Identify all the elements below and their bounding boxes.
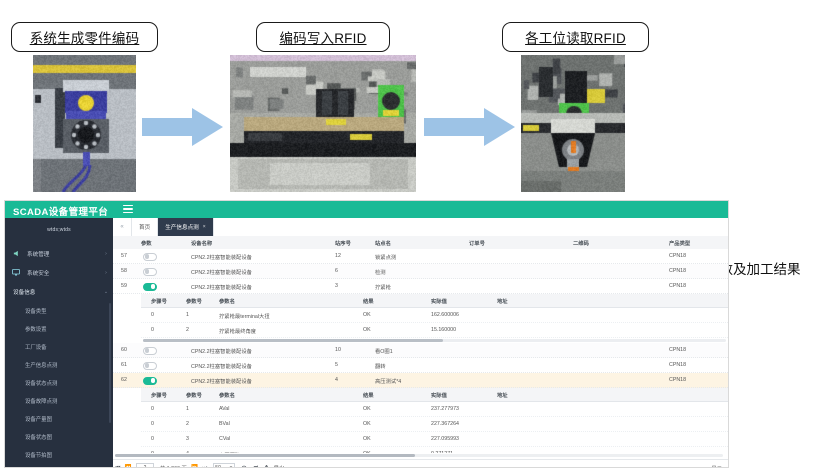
col-device-name: 设备名称	[191, 239, 212, 247]
toggle-knob	[145, 363, 150, 368]
page-total-label: 共 1,269 页	[160, 464, 187, 468]
cell-id: 58	[121, 268, 127, 274]
table-row[interactable]: 58CPN2.2柱塞智能装配设备6检测CPN18	[113, 264, 728, 279]
sidebar-label-9: 设备产量图	[5, 415, 113, 423]
sidebar-item-device-takt-chart[interactable]: 设备节拍图	[5, 447, 113, 463]
page-last-button[interactable]: ⏭	[200, 463, 210, 468]
col-product: 产品类型	[669, 239, 690, 247]
cell-station-no: 4	[335, 377, 338, 383]
toggle-knob	[151, 378, 156, 383]
flow-step-1-label: 系统生成零件编码	[30, 27, 140, 47]
app-top-bar	[5, 201, 728, 218]
subcell-param-name: BVal	[219, 421, 230, 427]
sidebar-user-label: wtds;wtds	[5, 227, 113, 233]
subcol-addr: 地址	[497, 391, 508, 399]
sidebar: wtds;wtds 系统管理 › 系统安全 › 设备信息 ⌄	[5, 218, 113, 467]
row-expand-toggle[interactable]	[143, 283, 157, 291]
table-row[interactable]: 57CPN2.2柱塞智能装配设备12锁紧点测CPN18	[113, 249, 728, 264]
subcell-param-no: 2	[186, 421, 189, 427]
page-prev-button[interactable]: ⏪	[123, 463, 133, 468]
app-brand-title: SCADA设备管理平台	[13, 204, 108, 218]
sidebar-item-device-output-chart[interactable]: 设备产量图	[5, 411, 113, 427]
subcell-param-name: 拧紧枪最terminal大扭	[219, 312, 270, 320]
table-body: 57CPN2.2柱塞智能装配设备12锁紧点测CPN1858CPN2.2柱塞智能装…	[113, 249, 728, 453]
subcol-res: 结果	[363, 297, 374, 305]
nested-grid-row[interactable]: 02拧紧枪最终角度OK15.160000	[141, 323, 728, 338]
cell-station-no: 10	[335, 347, 341, 353]
cell-device-name: CPN2.2柱塞智能装配设备	[191, 377, 252, 385]
subcell-result: OK	[363, 436, 371, 442]
table-row[interactable]: 59CPN2.2柱塞智能装配设备3拧紧枪CPN18	[113, 279, 728, 294]
cell-station-name: 锁紧点测	[375, 253, 396, 261]
page-size-value: 50	[215, 465, 221, 468]
subcell-param-no: 1	[186, 312, 189, 318]
chevron-down-icon: ⌄	[99, 289, 113, 295]
sidebar-item-production-info[interactable]: 生产信息点测	[5, 357, 113, 373]
cell-device-name: CPN2.2柱塞智能装配设备	[191, 268, 252, 276]
subcol-val: 实际值	[431, 297, 447, 305]
nested-grid-row[interactable]: 03CValOK227.095993	[141, 432, 728, 447]
flow-step-3-label: 各工位读取RFID	[525, 27, 626, 47]
chevron-right-icon-0: ›	[99, 251, 113, 257]
subcell-param-name: 拧紧枪最终角度	[219, 327, 256, 335]
slide-canvas: 系统生成零件编码 编码写入RFID 各工位读取RFID 记录过程参数及加工结果 …	[0, 0, 833, 470]
page-size-select[interactable]: 50 ▾	[213, 463, 235, 468]
tab-production-info-label: 生产信息点测	[165, 223, 199, 231]
col-param: 参数	[141, 239, 152, 247]
table-row[interactable]: 61CPN2.2柱塞智能装配设备5翻转CPN18	[113, 358, 728, 373]
cell-device-name: CPN2.2柱塞智能装配设备	[191, 283, 252, 291]
sidebar-label-6: 生产信息点测	[5, 361, 113, 369]
close-icon[interactable]: ×	[203, 224, 206, 230]
subcell-step: 0	[151, 421, 154, 427]
sidebar-item-device-info[interactable]: 设备信息 ⌄	[5, 282, 113, 301]
cell-station-no: 5	[335, 362, 338, 368]
flow-step-2-label: 编码写入RFID	[279, 27, 366, 47]
sidebar-item-factory-device[interactable]: 工厂设备	[5, 339, 113, 355]
col-station: 站点名	[375, 239, 391, 247]
nested-grid-row[interactable]: 02BValOK227.367264	[141, 417, 728, 432]
cell-product-type: CPN18	[669, 268, 686, 274]
cell-station-name: 翻转	[375, 362, 386, 370]
col-station-no: 站序号	[335, 239, 351, 247]
cell-product-type: CPN18	[669, 253, 686, 259]
subcell-step: 0	[151, 436, 154, 442]
flow-arrow-2-icon	[424, 107, 516, 147]
subcell-step: 0	[151, 312, 154, 318]
tab-home[interactable]: 首页	[132, 218, 158, 236]
row-expand-toggle[interactable]	[143, 377, 157, 385]
flow-step-1-callout: 系统生成零件编码	[11, 22, 158, 52]
toggle-knob	[145, 348, 150, 353]
cell-product-type: CPN18	[669, 283, 686, 289]
subcol-pname: 参数名	[219, 391, 235, 399]
subcol-pname: 参数名	[219, 297, 235, 305]
sidebar-label-1: 系统安全	[27, 269, 99, 277]
nested-parameter-grid: 步骤号参数号参数名结果实际值地址01拧紧枪最terminal大扭OK162.60…	[141, 294, 728, 343]
pager-right-label: 显示	[711, 464, 722, 468]
sidebar-item-device-type[interactable]: 设备类型	[5, 303, 113, 319]
sidebar-label-11: 设备节拍图	[5, 451, 113, 459]
flow-step-3-callout: 各工位读取RFID	[502, 22, 649, 52]
subcol-pno: 参数号	[186, 391, 202, 399]
tab-strip: « 首页 生产信息点测 ×	[113, 218, 728, 237]
subcol-res: 结果	[363, 391, 374, 399]
table-header: 参数 设备名称 站序号 站点名 订单号 二维码 产品类型	[113, 236, 728, 250]
subcell-step: 0	[151, 327, 154, 333]
sidebar-label-0: 系统管理	[27, 250, 99, 258]
cell-id: 57	[121, 253, 127, 259]
col-qr: 二维码	[573, 239, 589, 247]
subcell-param-no: 1	[186, 406, 189, 412]
sidebar-label-7: 设备状态点测	[5, 379, 113, 387]
toggle-knob	[151, 284, 156, 289]
cell-id: 59	[121, 283, 127, 289]
sidebar-item-device-fault[interactable]: 设备故障点测	[5, 393, 113, 409]
sidebar-label-8: 设备故障点测	[5, 397, 113, 405]
megaphone-icon	[5, 250, 27, 257]
row-expand-toggle[interactable]	[143, 362, 157, 370]
cell-station-no: 6	[335, 268, 338, 274]
subcell-result: OK	[363, 327, 371, 333]
row-expand-toggle[interactable]	[143, 347, 157, 355]
tab-nav-prev-icon[interactable]: «	[113, 218, 132, 236]
sidebar-item-device-status-chart[interactable]: 设备状态图	[5, 429, 113, 445]
search-icon[interactable]	[240, 464, 249, 469]
chevron-right-icon-1: ›	[99, 270, 113, 276]
sidebar-label-10: 设备状态图	[5, 433, 113, 441]
cell-device-name: CPN2.2柱塞智能装配设备	[191, 347, 252, 355]
col-order: 订单号	[469, 239, 485, 247]
flow-step-2-callout: 编码写入RFID	[256, 22, 390, 52]
flow-arrow-1-icon	[142, 107, 224, 147]
sidebar-item-system-security[interactable]: 系统安全 ›	[5, 263, 113, 282]
nested-grid-header: 步骤号参数号参数名结果实际值地址	[141, 388, 728, 402]
table-row[interactable]: 62CPN2.2柱塞智能装配设备4高压测试*4CPN18	[113, 373, 728, 388]
subcol-addr: 地址	[497, 297, 508, 305]
export-icon[interactable]	[262, 464, 271, 469]
subcell-result: OK	[363, 312, 371, 318]
subcell-actual-value: 15.160000	[431, 327, 456, 333]
nested-grid-header: 步骤号参数号参数名结果实际值地址	[141, 294, 728, 308]
subcol-step: 步骤号	[151, 391, 167, 399]
cell-id: 60	[121, 347, 127, 353]
page-next-button[interactable]: ⏩	[190, 463, 200, 468]
cell-id: 61	[121, 362, 127, 368]
sidebar-item-parameter-settings[interactable]: 参数设置	[5, 321, 113, 337]
nested-parameter-grid: 步骤号参数号参数名结果实际值地址01AValOK237.27797302BVal…	[141, 388, 728, 453]
pagination-bar: ⏮ ⏪ 2 共 1,269 页 ⏩ ⏭ 50 ▾ 导出	[113, 459, 728, 468]
barcode-scanner-photo	[33, 55, 136, 192]
sidebar-item-production-takt-chart[interactable]: 生产节拍图	[5, 465, 113, 468]
cell-station-no: 12	[335, 253, 341, 259]
nested-grid-row[interactable]: 01AValOK237.277973	[141, 402, 728, 417]
sidebar-item-system-management[interactable]: 系统管理 ›	[5, 244, 113, 263]
cell-station-name: 拧紧枪	[375, 283, 391, 291]
sidebar-label-5: 工厂设备	[5, 343, 113, 351]
chevron-down-icon-pagesize: ▾	[230, 465, 233, 468]
cell-device-name: CPN2.2柱塞智能装配设备	[191, 362, 252, 370]
page-number-input[interactable]: 2	[136, 463, 154, 468]
nested-grid-row[interactable]: 01拧紧枪最terminal大扭OK162.600006	[141, 308, 728, 323]
subcell-step: 0	[151, 406, 154, 412]
content-area: « 首页 生产信息点测 × 参数 设备名称 站序号 站点名 订单号 二维码 产品…	[113, 218, 728, 467]
row-expand-toggle[interactable]	[143, 253, 157, 261]
cell-station-no: 3	[335, 283, 338, 289]
cell-device-name: CPN2.2柱塞智能装配设备	[191, 253, 252, 261]
monitor-icon	[5, 269, 27, 276]
toggle-knob	[145, 254, 150, 259]
subcell-actual-value: 162.600006	[431, 312, 459, 318]
subcol-pno: 参数号	[186, 297, 202, 305]
subcell-actual-value: 227.367264	[431, 421, 459, 427]
subcell-param-name: CVal	[219, 436, 230, 442]
subcell-actual-value: 227.095993	[431, 436, 459, 442]
cell-product-type: CPN18	[669, 362, 686, 368]
sidebar-item-device-status[interactable]: 设备状态点测	[5, 375, 113, 391]
sidebar-label-3: 设备类型	[5, 307, 113, 315]
cell-station-name: 高压测试*4	[375, 377, 401, 385]
cell-station-name: 看O圈1	[375, 347, 393, 355]
toggle-knob	[145, 269, 150, 274]
cell-product-type: CPN18	[669, 347, 686, 353]
table-row[interactable]: 60CPN2.2柱塞智能装配设备10看O圈1CPN18	[113, 343, 728, 358]
subcell-actual-value: 237.277973	[431, 406, 459, 412]
scada-app-window: SCADA设备管理平台 wtds;wtds 系统管理 › 系统安全 ›	[4, 200, 729, 468]
sidebar-label-2: 设备信息	[5, 288, 99, 296]
subcol-val: 实际值	[431, 391, 447, 399]
cell-product-type: CPN18	[669, 377, 686, 383]
cell-station-name: 检测	[375, 268, 386, 276]
subcell-param-name: AVal	[219, 406, 229, 412]
subcell-result: OK	[363, 406, 371, 412]
rfid-reader-station-photo	[521, 55, 625, 192]
tab-home-label: 首页	[139, 223, 150, 231]
sidebar-label-4: 参数设置	[5, 325, 113, 333]
refresh-icon[interactable]	[251, 464, 260, 469]
subcell-result: OK	[363, 421, 371, 427]
rfid-writer-station-photo	[230, 55, 416, 192]
subcell-param-no: 2	[186, 327, 189, 333]
subcell-param-no: 3	[186, 436, 189, 442]
tab-production-info[interactable]: 生产信息点测 ×	[158, 218, 214, 236]
cell-id: 62	[121, 377, 127, 383]
subcol-step: 步骤号	[151, 297, 167, 305]
page-first-button[interactable]: ⏮	[113, 463, 123, 468]
row-expand-toggle[interactable]	[143, 268, 157, 276]
export-label[interactable]: 导出	[274, 464, 285, 468]
menu-icon[interactable]	[123, 205, 133, 214]
